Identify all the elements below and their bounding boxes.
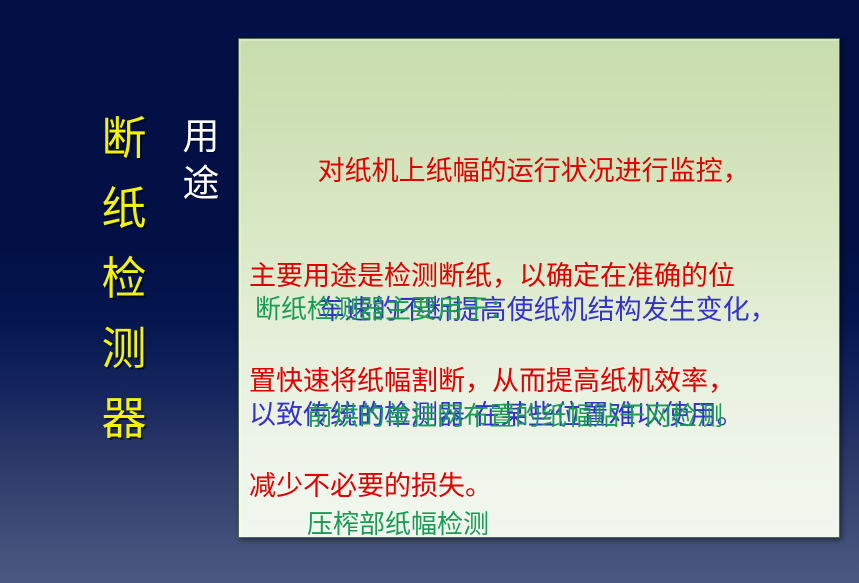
- content-panel: 对纸机上纸幅的运行状况进行监控， 主要用途是检测断纸，以确定在准确的位 置快速将…: [238, 38, 840, 538]
- presentation-slide: 断 纸 检 测 器 用 途 对纸机上纸幅的运行状况进行监控， 主要用途是检测断纸…: [0, 0, 859, 583]
- vertical-title-char: 纸: [101, 174, 146, 244]
- vertical-title-char: 检: [101, 244, 146, 314]
- vertical-title: 断 纸 检 测 器: [93, 104, 155, 454]
- green-list: 前烘的单挂网布置的纸幅贴干网检测 压榨部纸幅检测 烘干部双干网纸幅检测 压光机前…: [239, 327, 839, 538]
- red-paragraph-line: 对纸机上纸幅的运行状况进行监控，: [249, 154, 833, 189]
- vertical-title-char: 断: [101, 104, 146, 174]
- vertical-subtitle-char: 用: [183, 113, 220, 160]
- vertical-title-char: 器: [101, 384, 146, 454]
- vertical-subtitle-char: 途: [183, 160, 220, 207]
- vertical-title-char: 测: [101, 314, 146, 384]
- green-list-item: 压榨部纸幅检测: [307, 507, 833, 538]
- green-list-item: 前烘的单挂网布置的纸幅贴干网检测: [307, 399, 833, 435]
- vertical-subtitle: 用 途: [176, 113, 226, 207]
- green-heading: 断纸检测器主要用于：: [239, 293, 839, 327]
